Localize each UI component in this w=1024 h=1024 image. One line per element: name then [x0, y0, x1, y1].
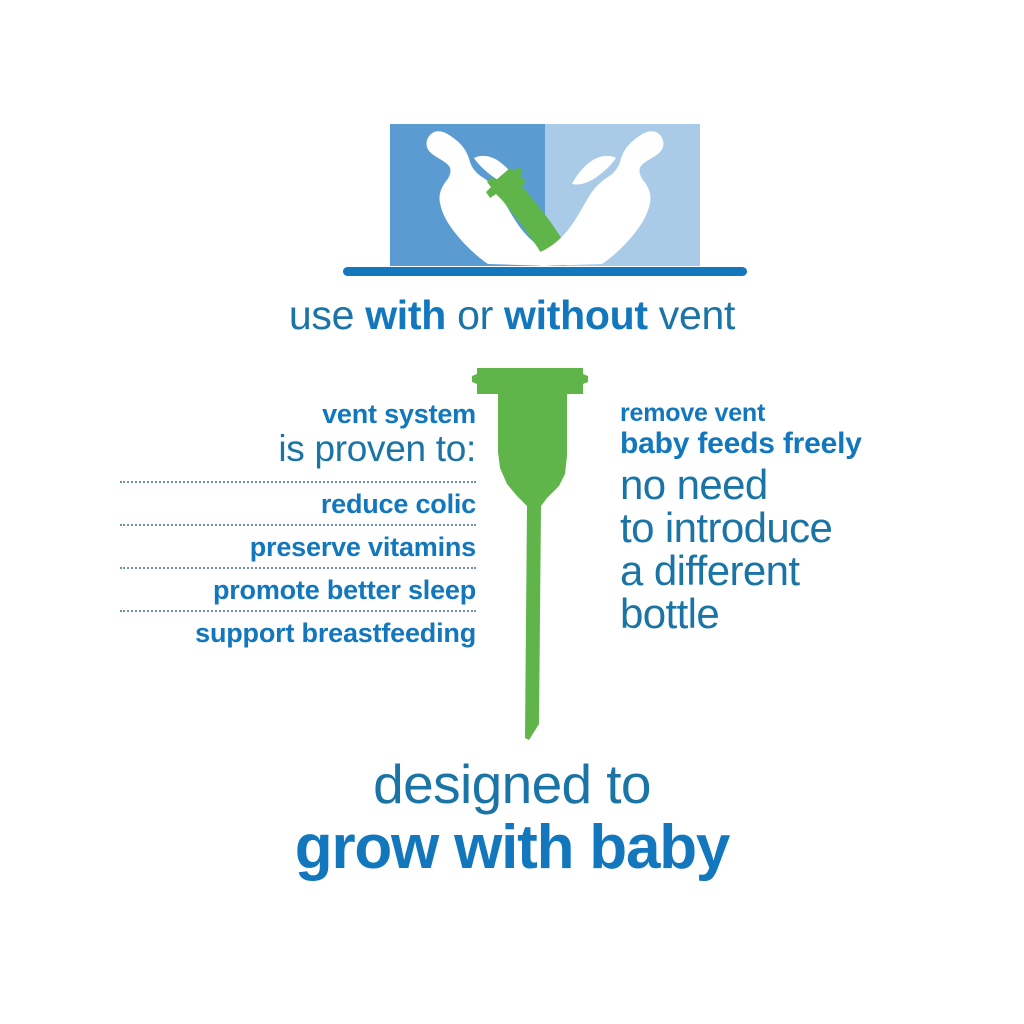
headline-part-1: use: [289, 292, 365, 338]
vent-system-subhead: is proven to:: [120, 429, 476, 469]
remove-vent-kicker: remove vent: [620, 400, 920, 427]
remove-vent-body: no need to introduce a different bottle: [620, 464, 920, 635]
headline-use-with-or-without-vent: use with or without vent: [0, 292, 1024, 339]
vent-system-kicker: vent system: [120, 400, 476, 429]
hero-illustration: [343, 118, 747, 276]
green-vent-icon: [455, 364, 605, 744]
list-item: support breastfeeding: [120, 610, 476, 653]
headline-bold-without: without: [504, 292, 648, 338]
body-line: no need: [620, 464, 920, 507]
vent-benefit-list: reduce colic preserve vitamins promote b…: [120, 481, 476, 653]
hero-baseline-bar: [343, 267, 747, 276]
body-line: a different: [620, 550, 920, 593]
infographic-canvas: use with or without vent vent system is …: [0, 0, 1024, 1024]
headline-part-3: vent: [648, 292, 735, 338]
remove-vent-column: remove vent baby feeds freely no need to…: [620, 400, 920, 635]
remove-vent-subhead: baby feeds freely: [620, 427, 920, 461]
headline-bold-with: with: [365, 292, 446, 338]
headline-part-2: or: [446, 292, 504, 338]
body-line: bottle: [620, 593, 920, 636]
bottle-silhouettes-icon: [390, 124, 700, 266]
footer-line-grow-with-baby: grow with baby: [0, 812, 1024, 883]
body-line: to introduce: [620, 507, 920, 550]
vent-system-column: vent system is proven to: reduce colic p…: [120, 400, 476, 653]
list-item: reduce colic: [120, 481, 476, 524]
list-item: preserve vitamins: [120, 524, 476, 567]
list-item: promote better sleep: [120, 567, 476, 610]
footer-line-designed-to: designed to: [0, 752, 1024, 816]
